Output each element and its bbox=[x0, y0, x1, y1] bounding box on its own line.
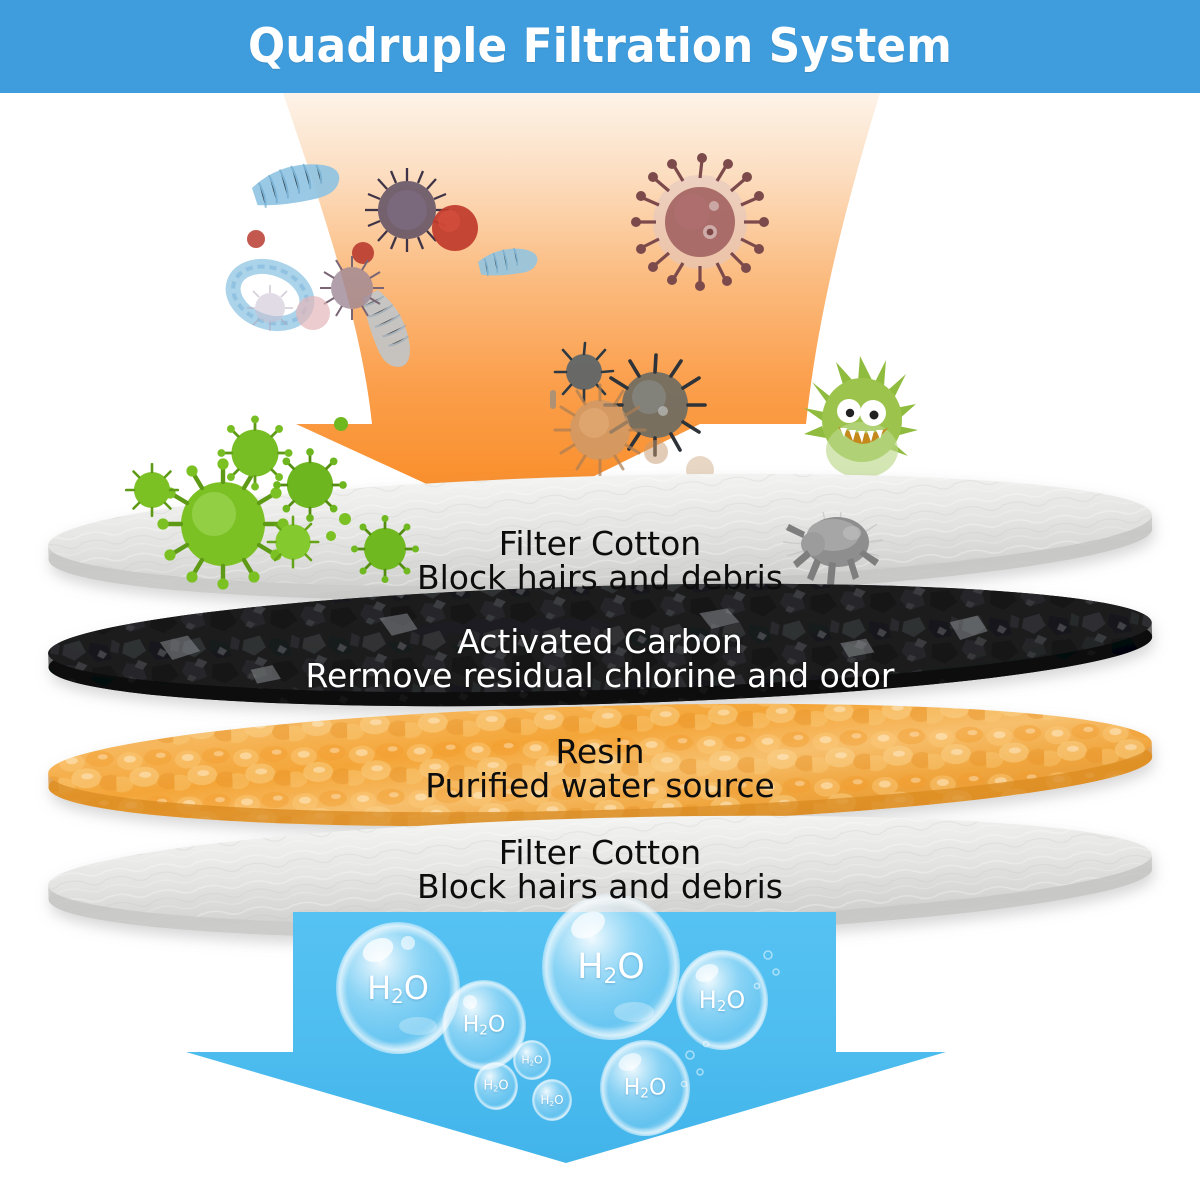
water-bubble bbox=[532, 1079, 572, 1121]
germ-monster-icon bbox=[804, 356, 918, 478]
water-bubble bbox=[542, 894, 680, 1040]
water-bubble bbox=[336, 922, 460, 1054]
coronavirus-particle bbox=[631, 153, 769, 291]
header-bar: Quadruple Filtration System bbox=[0, 0, 1200, 93]
water-bubble bbox=[474, 1062, 518, 1110]
page-title: Quadruple Filtration System bbox=[42, 0, 1158, 93]
layer-resin bbox=[47, 691, 1154, 840]
water-bubble bbox=[513, 1040, 551, 1080]
water-bubble bbox=[600, 1040, 690, 1136]
water-bubble bbox=[676, 950, 768, 1050]
filtration-diagram-svg bbox=[0, 0, 1200, 1200]
infographic-root: Filter Cotton Block hairs and debris Act… bbox=[0, 0, 1200, 1200]
